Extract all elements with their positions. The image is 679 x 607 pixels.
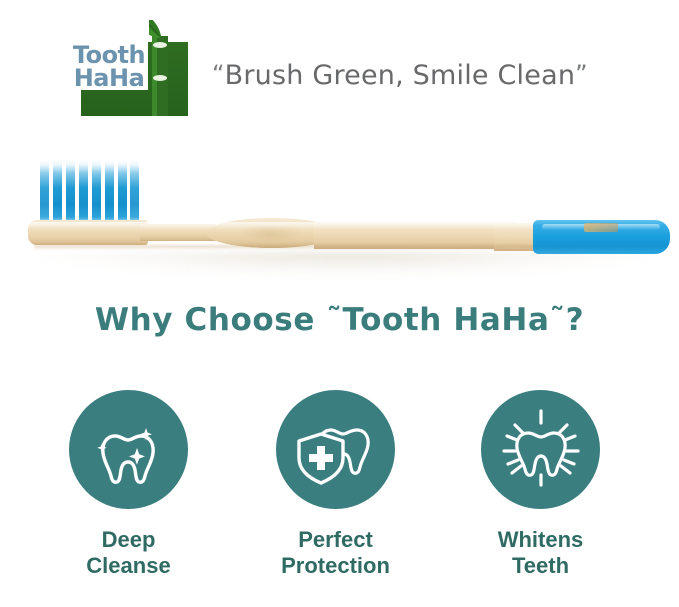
- feature-item-deep-cleanse: Deep Cleanse: [26, 390, 231, 580]
- tagline-open-quote: “: [212, 60, 225, 88]
- feature-list: Deep Cleanse Perfect Protection: [0, 390, 679, 607]
- bamboo-leaf-icon: [149, 20, 171, 116]
- shield-cross-tooth-icon: [295, 410, 377, 490]
- feature-label: Whitens Teeth: [438, 527, 643, 580]
- logo-wordmark-line2: HaHa: [69, 67, 149, 90]
- feature-label: Deep Cleanse: [26, 527, 231, 580]
- feature-label: Perfect Protection: [233, 527, 438, 580]
- header: Tooth HaHa “Brush Green, Smile Clean”: [0, 0, 679, 140]
- handle-shading: [34, 245, 544, 250]
- feature-icon-circle: [481, 390, 600, 509]
- section-heading: Why Choose ˜Tooth HaHa˜?: [0, 302, 679, 338]
- handle-logo-imprint: [584, 223, 618, 232]
- product-shadow: [30, 252, 660, 278]
- handle-highlight: [28, 222, 548, 230]
- product-image: [0, 140, 679, 295]
- tooth-shine-rays-icon: [498, 407, 584, 493]
- feature-icon-circle: [276, 390, 395, 509]
- feature-icon-circle: [69, 390, 188, 509]
- brand-logo: Tooth HaHa: [66, 18, 188, 116]
- logo-wordmark: Tooth HaHa: [69, 44, 149, 91]
- tagline-text: Brush Green, Smile Clean: [225, 60, 576, 91]
- tooth-sparkle-icon: [89, 410, 169, 490]
- tagline: “Brush Green, Smile Clean”: [212, 60, 588, 91]
- tagline-close-quote: ”: [575, 60, 588, 88]
- feature-item-perfect-protection: Perfect Protection: [233, 390, 438, 580]
- feature-item-whitens-teeth: Whitens Teeth: [438, 390, 643, 580]
